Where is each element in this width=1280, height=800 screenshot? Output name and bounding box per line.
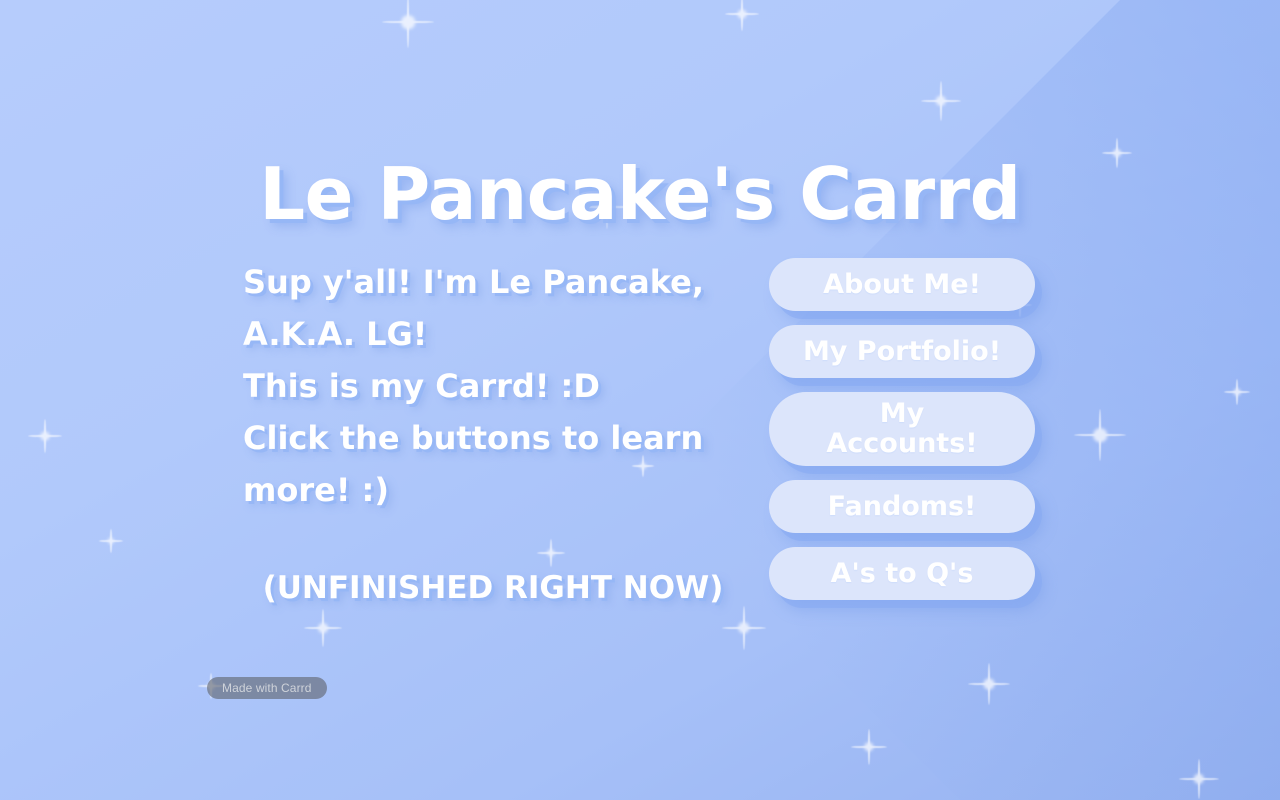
- page-root: Le Pancake's Carrd Sup y'all! I'm Le Pan…: [0, 0, 1280, 800]
- nav-button-my-portfolio[interactable]: My Portfolio!: [769, 325, 1035, 378]
- nav-button-as-to-qs[interactable]: A's to Q's: [769, 547, 1035, 600]
- intro-line: This is my Carrd! :D: [243, 360, 713, 412]
- nav-button-label-wrap: My Accounts!: [826, 399, 977, 459]
- nav-button-label: My: [826, 399, 977, 429]
- intro-line: A.K.A. LG!: [243, 308, 713, 360]
- nav-button-list: About Me! My Portfolio! My Accounts! Fan…: [769, 258, 1035, 614]
- nav-button-label: About Me!: [823, 270, 981, 300]
- nav-button-about-me[interactable]: About Me!: [769, 258, 1035, 311]
- made-with-carrd-badge[interactable]: Made with Carrd: [207, 677, 327, 699]
- nav-button-my-accounts[interactable]: My Accounts!: [769, 392, 1035, 466]
- nav-button-label: Fandoms!: [828, 492, 977, 522]
- nav-button-label: A's to Q's: [831, 559, 974, 589]
- nav-button-label: Accounts!: [826, 429, 977, 459]
- page-content: Le Pancake's Carrd Sup y'all! I'm Le Pan…: [0, 0, 1280, 800]
- nav-button-label: My Portfolio!: [803, 337, 1001, 367]
- intro-line: Sup y'all! I'm Le Pancake,: [243, 256, 713, 308]
- page-title: Le Pancake's Carrd: [0, 152, 1280, 236]
- unfinished-notice: (UNFINISHED RIGHT NOW): [243, 566, 743, 610]
- nav-button-fandoms[interactable]: Fandoms!: [769, 480, 1035, 533]
- intro-text: Sup y'all! I'm Le Pancake, A.K.A. LG! Th…: [243, 256, 713, 516]
- intro-line: more! :): [243, 464, 713, 516]
- intro-line: Click the buttons to learn: [243, 412, 713, 464]
